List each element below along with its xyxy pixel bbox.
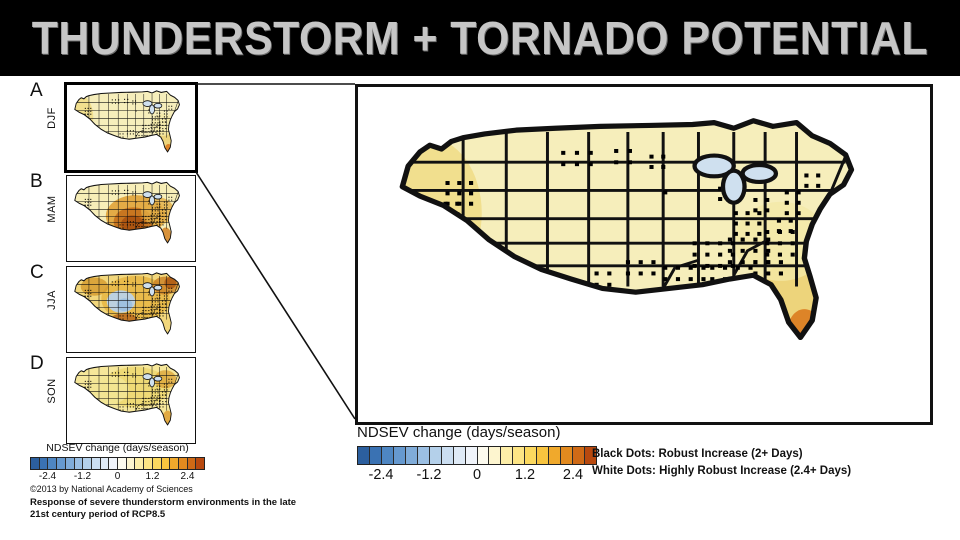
caption-line-1: Response of severe thunderstorm environm… (30, 497, 350, 509)
season-panel-djf[interactable]: ADJF (30, 82, 195, 171)
small-colorbar (30, 457, 205, 470)
black-dot-legend-text: Black Dots: Robust Increase (2+ Days) (592, 446, 942, 463)
title-banner: THUNDERSTORM + TORNADO POTENTIAL (0, 0, 960, 76)
season-panel-letter: B (30, 171, 43, 193)
colorbar-tick: -2.4 (39, 471, 56, 482)
small-colorbar-ticks: -2.4-1.201.22.4 (30, 471, 205, 485)
colorbar-tick: -1.2 (417, 467, 442, 483)
season-map-graphic (67, 358, 195, 443)
colorbar-tick: 0 (115, 471, 121, 482)
colorbar-tick: 0 (473, 467, 481, 483)
colorbar-tick: -1.2 (74, 471, 91, 482)
season-map-jja[interactable] (66, 266, 196, 353)
season-panel-letter: A (30, 80, 43, 102)
copyright-text: ©2013 by National Academy of Sciences (30, 484, 350, 494)
figure-body: ADJFBMAMCJJADSON NDSEV change (days/seas… (0, 76, 960, 540)
colorbar-tick: 1.2 (146, 471, 160, 482)
small-colorbar-title: NDSEV change (days/season) (30, 442, 205, 454)
season-panel-label: DJF (46, 88, 58, 148)
season-map-mam[interactable] (66, 175, 196, 262)
white-dot-legend-text: White Dots: Highly Robust Increase (2.4+… (592, 463, 942, 480)
season-map-graphic (67, 267, 195, 352)
main-colorbar-title: NDSEV change (days/season) (357, 424, 597, 441)
season-map-graphic (67, 85, 195, 170)
season-panel-mam[interactable]: BMAM (30, 173, 195, 262)
colorbar-tick: -2.4 (369, 467, 394, 483)
season-panel-label: JJA (46, 270, 58, 330)
colorbar-tick: 2.4 (181, 471, 195, 482)
page-title: THUNDERSTORM + TORNADO POTENTIAL (32, 11, 928, 65)
main-colorbar (357, 446, 597, 465)
dot-legend-block: Black Dots: Robust Increase (2+ Days) Wh… (592, 446, 942, 481)
season-panel-letter: D (30, 353, 44, 375)
main-colorbar-ticks: -2.4-1.201.22.4 (357, 467, 597, 487)
season-panel-letter: C (30, 262, 44, 284)
caption-block: ©2013 by National Academy of Sciences Re… (30, 484, 350, 521)
small-colorbar-block: NDSEV change (days/season) -2.4-1.201.22… (30, 442, 205, 485)
season-map-djf[interactable] (64, 82, 198, 173)
caption-line-2: 21st century period of RCP8.5 (30, 509, 350, 521)
main-colorbar-block: NDSEV change (days/season) -2.4-1.201.22… (357, 424, 597, 487)
colorbar-tick: 2.4 (563, 467, 583, 483)
season-map-son[interactable] (66, 357, 196, 444)
season-panel-label: SON (46, 361, 58, 421)
main-map-panel[interactable] (355, 84, 933, 425)
season-panel-son[interactable]: DSON (30, 355, 195, 444)
colorbar-tick: 1.2 (515, 467, 535, 483)
season-panel-label: MAM (46, 179, 58, 239)
season-panel-jja[interactable]: CJJA (30, 264, 195, 353)
main-map-usa-graphic (369, 100, 918, 402)
season-map-graphic (67, 176, 195, 261)
